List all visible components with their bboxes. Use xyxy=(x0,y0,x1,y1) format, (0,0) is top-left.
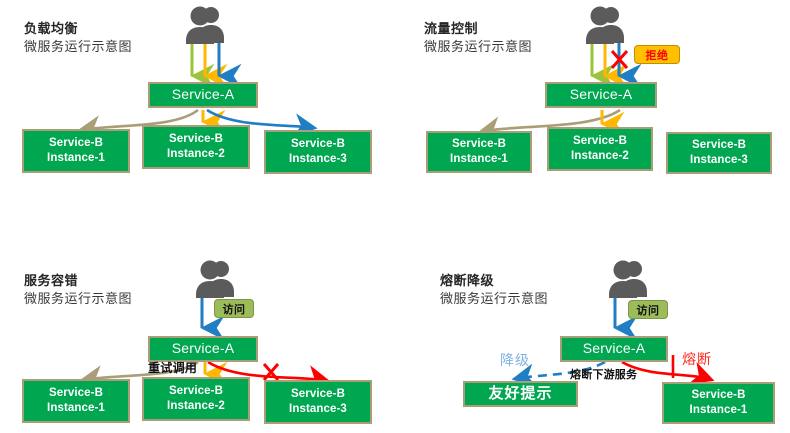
people-icon xyxy=(180,4,230,44)
panel-subtitle-load-balance: 微服务运行示意图 xyxy=(24,36,132,55)
service-b-line1: Service-B xyxy=(692,388,746,403)
break-downstream-label: 熔断下游服务 xyxy=(570,366,637,382)
service-b-instance-1-box[interactable]: Service-B Instance-1 xyxy=(22,129,130,173)
panel-title-fault-tolerance: 服务容错 xyxy=(24,270,78,289)
reject-badge-label: 拒绝 xyxy=(646,47,669,63)
service-b-line2: Instance-2 xyxy=(167,147,225,162)
service-b-line1: Service-B xyxy=(169,132,223,147)
diagram-canvas: 负载均衡 微服务运行示意图 Service-A Service-B Instan… xyxy=(0,0,790,433)
connectors-layer xyxy=(0,0,790,433)
service-b-line2: Instance-3 xyxy=(690,153,748,168)
panel-subtitle-fault-tolerance: 微服务运行示意图 xyxy=(24,288,132,307)
service-b-line1: Service-B xyxy=(49,386,103,401)
service-a-box[interactable]: Service-A xyxy=(560,336,668,362)
service-b-line1: Service-B xyxy=(49,136,103,151)
service-a-box[interactable]: Service-A xyxy=(148,82,258,108)
p1-user-arrows xyxy=(192,42,219,76)
panel-title-load-balance: 负载均衡 xyxy=(24,18,78,37)
service-b-instance-2-box[interactable]: Service-B Instance-2 xyxy=(547,127,653,171)
retry-call-label: 重试调用 xyxy=(148,359,197,376)
service-b-instance-3-box[interactable]: Service-B Instance-3 xyxy=(666,132,772,174)
service-b-instance-3-box[interactable]: Service-B Instance-3 xyxy=(264,130,372,174)
service-a-label: Service-A xyxy=(172,86,234,104)
service-b-instance-1-box[interactable]: Service-B Instance-1 xyxy=(662,382,775,424)
panel-title-flow-control: 流量控制 xyxy=(424,18,478,37)
service-b-line1: Service-B xyxy=(169,384,223,399)
service-b-instance-2-box[interactable]: Service-B Instance-2 xyxy=(142,125,250,169)
service-b-line2: Instance-1 xyxy=(450,152,508,167)
visit-badge-label: 访问 xyxy=(223,301,246,317)
service-b-line2: Instance-1 xyxy=(690,403,748,418)
service-a-label: Service-A xyxy=(583,340,645,358)
service-b-line1: Service-B xyxy=(692,138,746,153)
people-icon xyxy=(580,4,630,44)
panel-subtitle-circuit-breaker: 微服务运行示意图 xyxy=(440,288,548,307)
friendly-prompt-label: 友好提示 xyxy=(488,384,552,403)
service-b-line2: Instance-3 xyxy=(289,152,347,167)
service-b-instance-2-box[interactable]: Service-B Instance-2 xyxy=(142,377,250,421)
service-a-box[interactable]: Service-A xyxy=(545,82,657,108)
service-b-instance-3-box[interactable]: Service-B Instance-3 xyxy=(264,380,372,424)
people-icon xyxy=(190,258,240,298)
reject-badge: 拒绝 xyxy=(634,45,680,64)
service-b-line1: Service-B xyxy=(291,137,345,152)
people-icon xyxy=(603,258,653,298)
service-b-line1: Service-B xyxy=(573,134,627,149)
service-b-line2: Instance-2 xyxy=(571,149,629,164)
degrade-label: 降级 xyxy=(500,350,530,370)
circuit-break-label: 熔断 xyxy=(682,349,712,369)
visit-badge: 访问 xyxy=(628,300,668,319)
service-b-instance-1-box[interactable]: Service-B Instance-1 xyxy=(22,379,130,423)
service-b-line2: Instance-1 xyxy=(47,151,105,166)
service-a-label: Service-A xyxy=(172,340,234,358)
panel-subtitle-flow-control: 微服务运行示意图 xyxy=(424,36,532,55)
service-a-label: Service-A xyxy=(570,86,632,104)
friendly-prompt-box[interactable]: 友好提示 xyxy=(463,381,578,407)
service-b-line1: Service-B xyxy=(452,137,506,152)
p2-user-arrows xyxy=(592,42,619,76)
service-b-line1: Service-B xyxy=(291,387,345,402)
service-b-instance-1-box[interactable]: Service-B Instance-1 xyxy=(426,131,532,173)
panel-title-circuit-breaker: 熔断降级 xyxy=(440,270,494,289)
service-b-line2: Instance-1 xyxy=(47,401,105,416)
service-b-line2: Instance-2 xyxy=(167,399,225,414)
visit-badge-label: 访问 xyxy=(637,302,660,318)
visit-badge: 访问 xyxy=(214,299,254,318)
service-b-line2: Instance-3 xyxy=(289,402,347,417)
